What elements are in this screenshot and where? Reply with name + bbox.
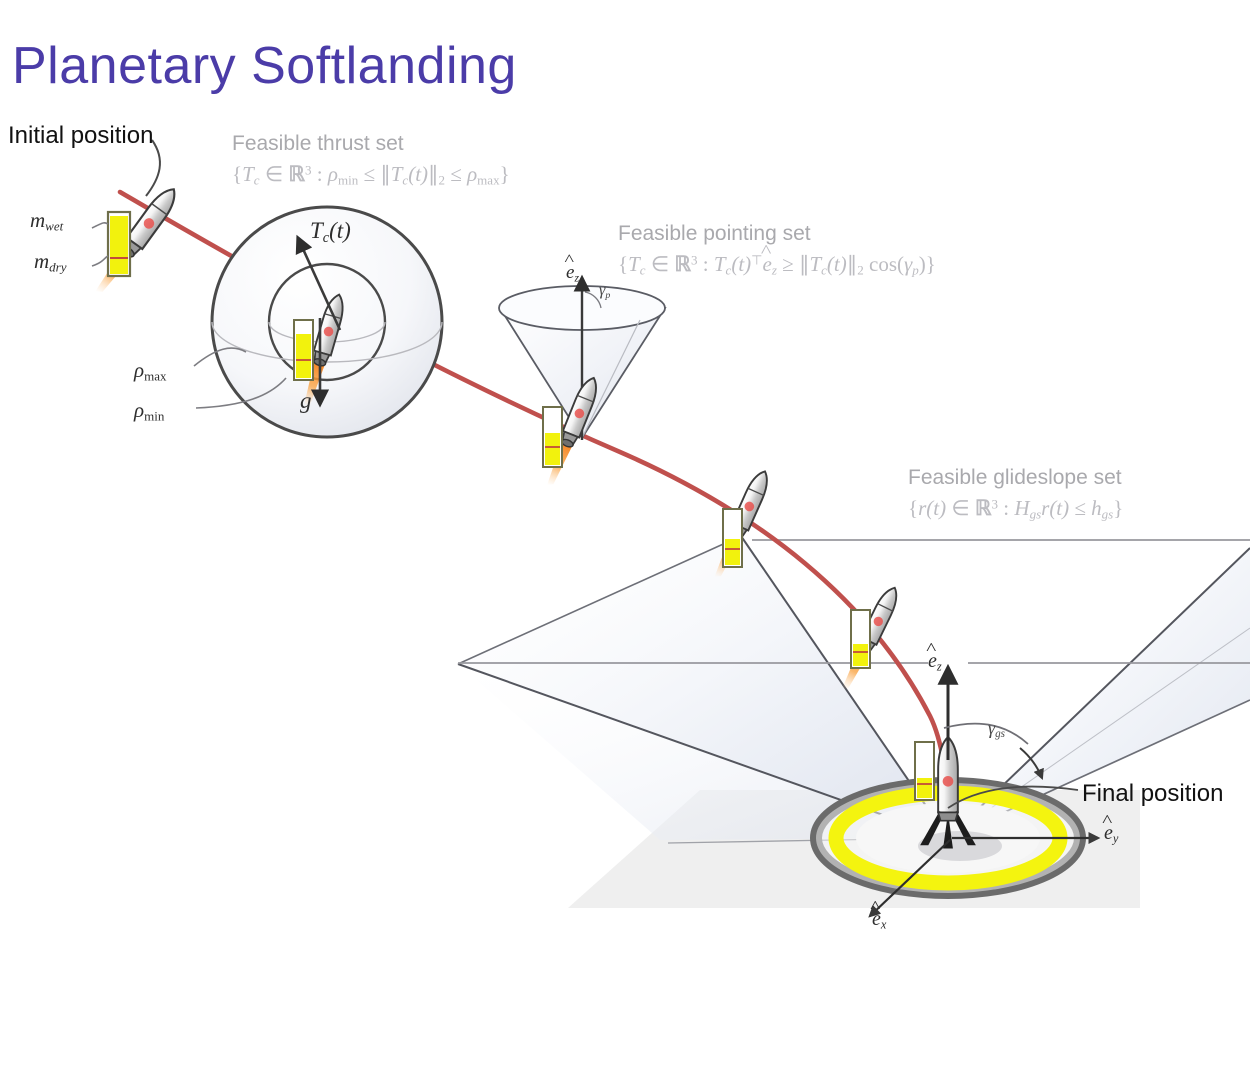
label-ex-axis: ex [872, 908, 886, 932]
ez-base: e [928, 650, 937, 672]
m-wet-base: m [30, 208, 45, 232]
rho-min-sub: min [144, 409, 164, 424]
label-gamma-gs: γgs [988, 718, 1005, 740]
leader-m-dry [92, 256, 108, 266]
label-ez-cone: ez [566, 262, 579, 285]
ez-sub: z [937, 659, 942, 673]
m-dry-sub: dry [49, 260, 66, 275]
ey-base: e [1104, 822, 1113, 844]
ez-cone-sub: z [574, 271, 579, 284]
label-thrust-vector: Tc(t) [310, 218, 351, 247]
label-gravity: g [300, 388, 312, 414]
label-ey-axis: ey [1104, 822, 1118, 846]
thrust-set-math: {Tc ∈ ℝ3 : ρmin ≤ ∥Tc(t)∥2 ≤ ρmax} [232, 162, 510, 189]
label-rho-max: ρmax [134, 358, 167, 385]
leader-m-wet [92, 223, 108, 228]
glideslope-set-math: {r(t) ∈ ℝ3 : Hgsr(t) ≤ hgs} [908, 496, 1123, 523]
glideslope-set-title: Feasible glideslope set [908, 466, 1123, 490]
diagram-vector-layer [0, 0, 1250, 1080]
fuel-gauge-pointing-set [543, 407, 562, 467]
constraint-set-pointing: Feasible pointing set {Tc ∈ ℝ3 : Tc(t)⊤e… [618, 222, 936, 279]
label-gamma-p: γp [599, 282, 610, 301]
rho-min-base: ρ [134, 398, 144, 422]
label-initial-position: Initial position [8, 122, 153, 150]
label-final-position: Final position [1082, 780, 1223, 808]
fuel-gauge-mid-upper [723, 509, 742, 567]
tc-base: T [310, 218, 323, 243]
rho-max-sub: max [144, 369, 166, 384]
pointing-set-title: Feasible pointing set [618, 222, 936, 246]
m-wet-sub: wet [45, 219, 63, 234]
fuel-gauge-mid-lower [851, 610, 870, 668]
ex-base: e [872, 908, 881, 930]
gamma-gs-arc [944, 724, 1028, 744]
m-dry-base: m [34, 249, 49, 273]
pointing-set-math: {Tc ∈ ℝ3 : Tc(t)⊤ez ≥ ∥Tc(t)∥2 cos(γp)} [618, 252, 936, 279]
gamma-p-sub: p [605, 290, 610, 301]
ez-cone-base: e [566, 262, 574, 283]
fuel-gauge-initial [108, 212, 130, 276]
fuel-gauge-final [915, 742, 934, 800]
label-ez-axis: ez [928, 650, 942, 674]
tc-arg: (t) [329, 218, 351, 243]
constraint-set-thrust: Feasible thrust set {Tc ∈ ℝ3 : ρmin ≤ ∥T… [232, 132, 510, 189]
label-rho-min: ρmin [134, 398, 164, 425]
thrust-set-title: Feasible thrust set [232, 132, 510, 156]
label-m-dry: mdry [34, 249, 67, 276]
page-title: Planetary Softlanding [12, 36, 517, 96]
constraint-set-glideslope: Feasible glideslope set {r(t) ∈ ℝ3 : Hgs… [908, 466, 1123, 523]
label-m-wet: mwet [30, 208, 63, 235]
ex-sub: x [881, 917, 887, 931]
rho-max-base: ρ [134, 358, 144, 382]
ey-sub: y [1113, 831, 1119, 845]
gamma-gs-sub: gs [995, 728, 1005, 740]
diagram-canvas: Planetary Softlanding Initial position F… [0, 0, 1250, 1080]
fuel-gauge-thrust-set [294, 320, 313, 380]
